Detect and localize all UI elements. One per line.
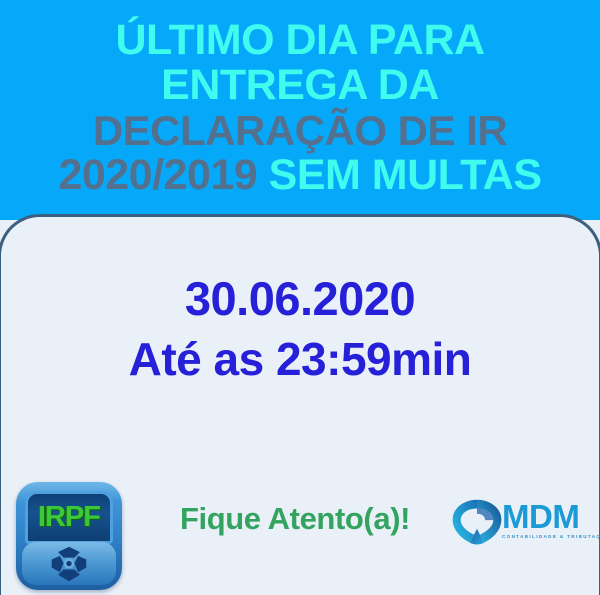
headline-line-4: 2020/2019 SEM MULTAS bbox=[14, 153, 586, 198]
mdm-tagline: CONTABILIDADE & TRIBUTAÇÃO bbox=[502, 534, 594, 540]
headline-gap bbox=[257, 151, 268, 199]
deadline-time: Até as 23:59min bbox=[0, 332, 600, 386]
mdm-name: MDM bbox=[502, 500, 594, 534]
deadline-block: 30.06.2020 Até as 23:59min bbox=[0, 272, 600, 386]
headline-line-1: ÚLTIMO DIA PARA bbox=[14, 18, 586, 63]
attention-callout: Fique Atento(a)! bbox=[150, 500, 440, 538]
irpf-icon-base bbox=[22, 542, 116, 585]
mdm-wordmark: MDM CONTABILIDADE & TRIBUTAÇÃO bbox=[502, 500, 594, 540]
headline-line-2: ENTREGA DA bbox=[14, 63, 586, 108]
mdm-triangle-ribbon-icon bbox=[448, 494, 506, 552]
headline-years: 2020/2019 bbox=[58, 151, 257, 199]
irpf-icon-screen: IRPF bbox=[25, 491, 113, 544]
irpf-app-icon: IRPF bbox=[16, 482, 122, 590]
irpf-label: IRPF bbox=[38, 503, 100, 532]
deadline-date: 30.06.2020 bbox=[0, 272, 600, 326]
headline-block: ÚLTIMO DIA PARA ENTREGA DA DECLARAÇÃO DE… bbox=[0, 0, 600, 216]
receita-federal-mark-icon bbox=[46, 544, 92, 584]
headline-emphasis: SEM MULTAS bbox=[269, 151, 542, 199]
footer-row: IRPF Fique Atento(a)! bbox=[0, 478, 600, 595]
headline-line-3: DECLARAÇÃO DE IR bbox=[14, 108, 586, 153]
poster-canvas: ÚLTIMO DIA PARA ENTREGA DA DECLARAÇÃO DE… bbox=[0, 0, 600, 595]
mdm-logo: MDM CONTABILIDADE & TRIBUTAÇÃO bbox=[448, 492, 592, 562]
